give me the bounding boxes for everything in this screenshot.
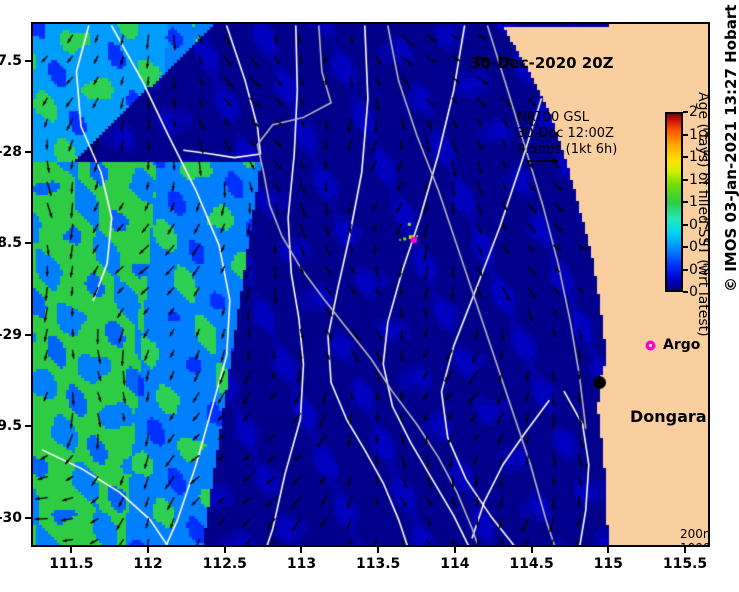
colorbar-tick (683, 201, 688, 203)
x-axis-tick (684, 546, 686, 553)
x-axis-label: 115 (594, 556, 623, 572)
y-axis-label: -27.5 (0, 53, 22, 69)
argo-legend: Argo (645, 337, 700, 353)
depth-key-200m: 200m (680, 527, 710, 541)
argo-marker-icon (645, 340, 656, 351)
y-axis-tick (25, 151, 32, 153)
colorbar-tick (683, 269, 688, 271)
depth-contour-key: 200m 1000m (680, 527, 710, 547)
colorbar-tick-label: 1.75 (689, 127, 710, 143)
x-axis-tick (300, 546, 302, 553)
right-arrow-icon (525, 156, 559, 166)
current-vector-key: NRT00 GSL 30-Dec 12:00Z 0.5m/s (1kt 6h) (517, 110, 617, 158)
y-axis-label: -30 (0, 510, 22, 526)
colorbar-tick-label: 1 (689, 194, 698, 210)
vector-key-line-2: 30-Dec 12:00Z (517, 126, 617, 142)
colorbar-tick (683, 179, 688, 181)
y-axis-label: -29 (0, 327, 22, 343)
colorbar-tick-label: 0 (689, 284, 698, 300)
y-axis-label: -29.5 (0, 418, 22, 434)
x-axis-tick (147, 546, 149, 553)
y-axis-tick (25, 517, 32, 519)
colorbar (665, 112, 683, 292)
colorbar-tick-label: 2 (689, 104, 698, 120)
colorbar-tick (683, 224, 688, 226)
x-axis-label: 115.5 (663, 556, 707, 572)
colorbar-tick-label: 0.5 (689, 239, 710, 255)
colorbar-tick-label: 0.75 (689, 217, 710, 233)
dongara-place-label: Dongara (630, 407, 707, 426)
x-axis-label: 112 (133, 556, 162, 572)
x-axis-label: 113.5 (356, 556, 400, 572)
colorbar-tick-label: 1.25 (689, 172, 710, 188)
x-axis-tick (70, 546, 72, 553)
colorbar-tick (683, 246, 688, 248)
credit-text: © IMOS 03-Jan-2021 13:27 Hobart (722, 5, 739, 292)
y-axis-tick (25, 242, 32, 244)
x-axis-tick (607, 546, 609, 553)
colorbar-tick (683, 156, 688, 158)
y-axis-tick (25, 60, 32, 62)
x-axis-label: 114.5 (509, 556, 553, 572)
x-axis-label: 113 (287, 556, 316, 572)
x-axis-tick (454, 546, 456, 553)
colorbar-tick (683, 111, 688, 113)
figure-root: 30-Dec-2020 20Z NRT00 GSL 30-Dec 12:00Z … (0, 0, 739, 592)
x-axis-tick (224, 546, 226, 553)
colorbar-tick-label: 0.25 (689, 262, 710, 278)
y-axis-label: -28 (0, 144, 22, 160)
argo-legend-label: Argo (663, 337, 700, 353)
x-axis-label: 112.5 (203, 556, 247, 572)
vector-key-line-1: NRT00 GSL (517, 110, 617, 126)
x-axis-label: 111.5 (49, 556, 93, 572)
y-axis-tick (25, 334, 32, 336)
y-axis-label: -28.5 (0, 235, 22, 251)
timestamp-title: 30-Dec-2020 20Z (470, 54, 614, 72)
colorbar-tick-label: 1.5 (689, 149, 710, 165)
colorbar-tick (683, 291, 688, 293)
x-axis-label: 114 (440, 556, 469, 572)
sst-age-field-canvas (33, 24, 708, 545)
x-axis-tick (377, 546, 379, 553)
x-axis-tick (531, 546, 533, 553)
map-plot-area[interactable]: 30-Dec-2020 20Z NRT00 GSL 30-Dec 12:00Z … (31, 22, 710, 547)
colorbar-tick (683, 134, 688, 136)
y-axis-tick (25, 425, 32, 427)
